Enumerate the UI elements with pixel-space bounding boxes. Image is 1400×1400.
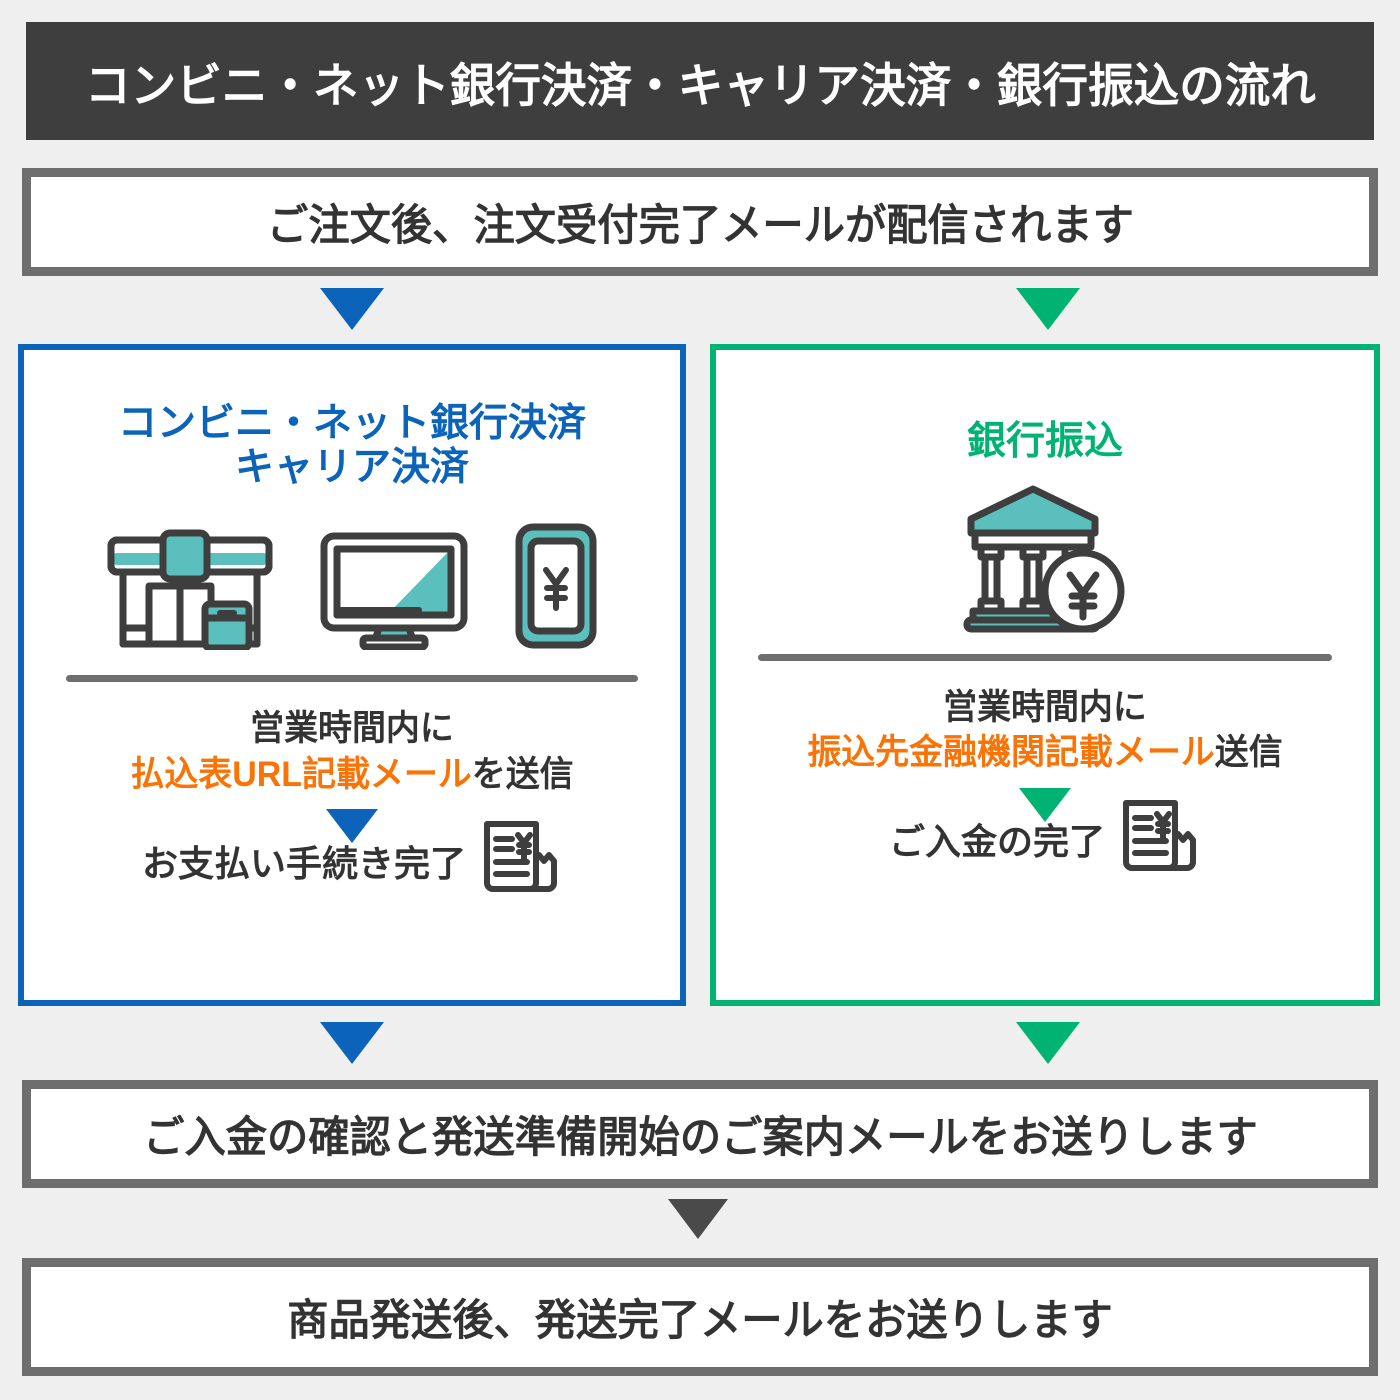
step-payment-confirmed-box: ご入金の確認と発送準備開始のご案内メールをお送りします [22, 1080, 1378, 1188]
bank-heading-line1: 銀行振込 [967, 420, 1123, 463]
bank-icon-row [716, 488, 1374, 638]
convenience-store-icon [105, 528, 275, 655]
down-arrow-icon-bank-to-confirm [1016, 1022, 1080, 1064]
step-order-received-label: ご注文後、注文受付完了メールが配信されます [267, 191, 1134, 253]
down-arrow-icon-to-shipped [668, 1199, 728, 1239]
receipt-yen-icon [1117, 796, 1201, 883]
panel-heading-line1: コンビニ・ネット銀行決済 [118, 402, 586, 445]
cvs-panel-body: 営業時間内に 払込表URL記載メールを送信 お支払い手続き完了 [24, 706, 680, 904]
cvs-body-line1: 営業時間内に [34, 706, 670, 752]
bank-building-yen-icon [959, 483, 1131, 638]
down-arrow-icon-cvs-inner [326, 809, 378, 843]
bank-body-line2: 振込先金融機関記載メール送信 [726, 730, 1364, 776]
payment-method-panel-bank-transfer: 銀行振込 [710, 344, 1380, 1006]
cvs-final-label: お支払い手続き完了 [142, 835, 466, 887]
down-arrow-icon-cvs-to-confirm [320, 1022, 384, 1064]
cvs-body-tail: を送信 [472, 755, 574, 794]
bank-final-label: ご入金の完了 [889, 813, 1105, 865]
step-shipped-box: 商品発送後、発送完了メールをお送りします [22, 1258, 1378, 1376]
payment-method-panel-convenience-store: コンビニ・ネット銀行決済 キャリア決済 [18, 344, 686, 1006]
bank-body-highlight: 振込先金融機関記載メール [807, 733, 1214, 772]
panel-heading-line2: キャリア決済 [24, 446, 680, 490]
panel-heading-convenience-store: コンビニ・ネット銀行決済 キャリア決済 [24, 402, 680, 489]
panel-heading-bank-transfer: 銀行振込 [716, 420, 1374, 464]
bank-panel-body: 営業時間内に 振込先金融機関記載メール送信 ご入金の完了 [716, 685, 1374, 883]
cvs-body-highlight: 払込表URL記載メール [130, 755, 471, 794]
cvs-panel-divider [66, 675, 638, 682]
page-title: コンビニ・ネット銀行決済・キャリア決済・銀行振込の流れ [85, 47, 1316, 116]
step-order-received-box: ご注文後、注文受付完了メールが配信されます [22, 168, 1378, 276]
down-arrow-icon-to-bank-panel [1016, 288, 1080, 330]
page-title-bar: コンビニ・ネット銀行決済・キャリア決済・銀行振込の流れ [26, 22, 1374, 140]
bank-body-line1: 営業時間内に [726, 685, 1364, 731]
smartphone-yen-icon [513, 522, 599, 655]
down-arrow-icon-bank-inner [1019, 788, 1071, 822]
desktop-monitor-icon [319, 530, 469, 655]
down-arrow-icon-to-cvs-panel [320, 288, 384, 330]
cvs-body-line2: 払込表URL記載メールを送信 [34, 752, 670, 798]
step-payment-confirmed-label: ご入金の確認と発送準備開始のご案内メールをお送りします [143, 1103, 1258, 1165]
bank-body-tail: 送信 [1215, 733, 1283, 772]
cvs-icon-row [24, 515, 680, 655]
receipt-yen-icon [478, 817, 562, 904]
bank-panel-divider [758, 654, 1332, 661]
step-shipped-label: 商品発送後、発送完了メールをお送りします [287, 1286, 1113, 1348]
